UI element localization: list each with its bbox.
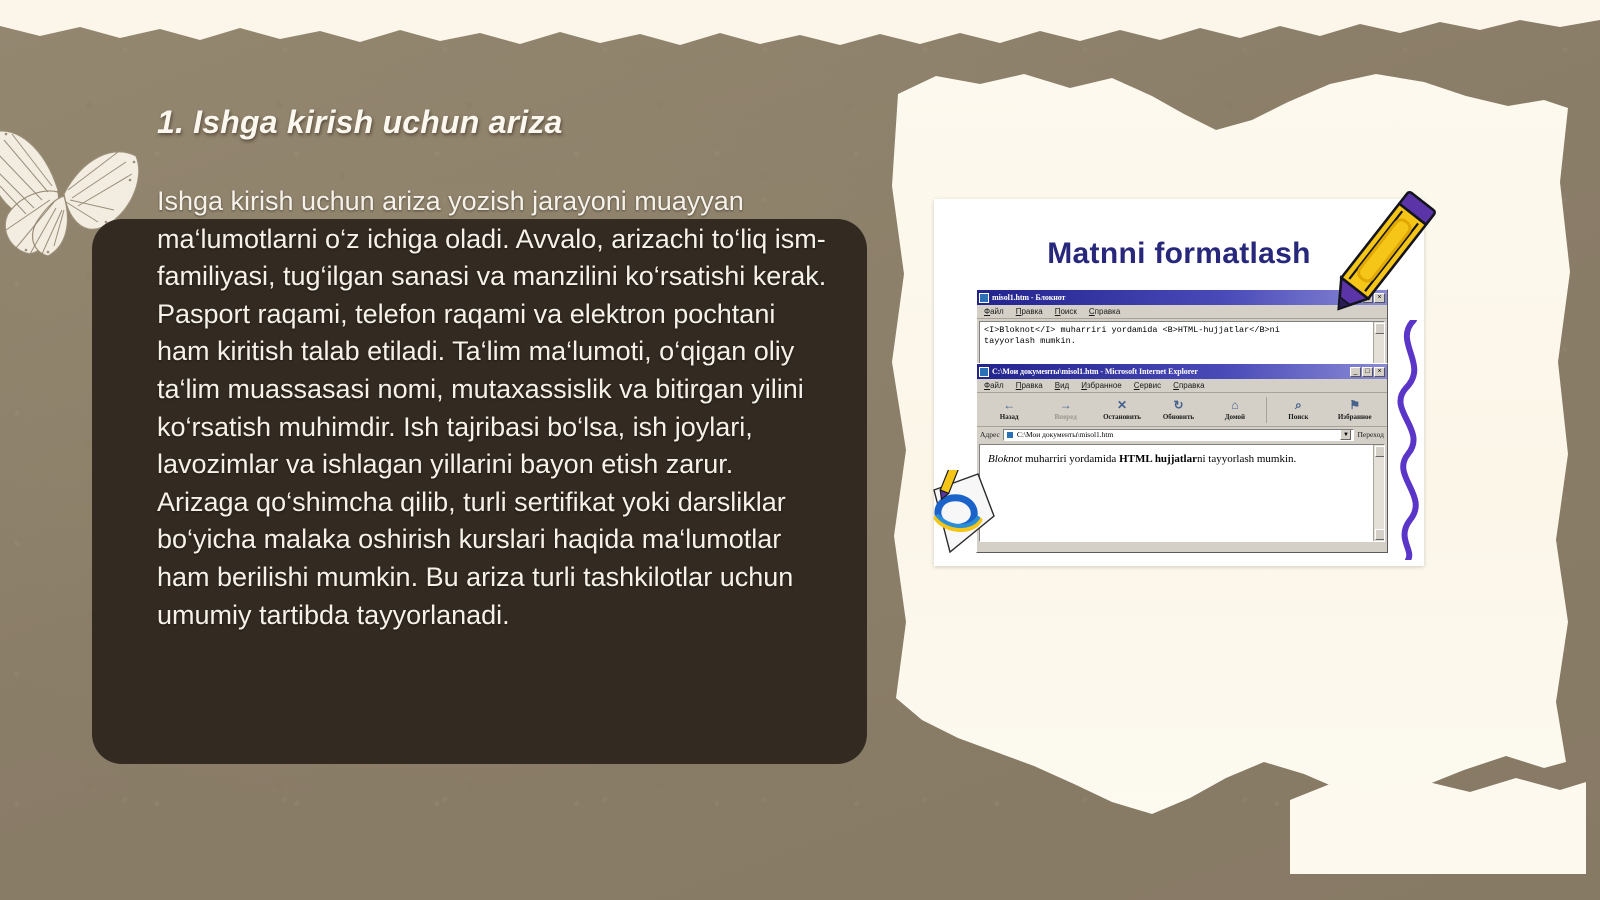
ie-page-italic-word: Bloknot xyxy=(988,453,1022,465)
toolbar-label: Избранное xyxy=(1338,413,1372,421)
toolbar-label: Обновить xyxy=(1163,413,1194,421)
menu-item-help[interactable]: Справка xyxy=(1173,381,1204,390)
internet-explorer-window[interactable]: C:\Мои документы\misol1.htm - Microsoft … xyxy=(976,363,1388,553)
search-icon: ⌕ xyxy=(1270,398,1326,413)
address-label: Адрес xyxy=(980,430,1000,439)
ie-page-text-2: ni tayyorlash mumkin. xyxy=(1197,453,1296,465)
favorites-icon: ⚑ xyxy=(1327,398,1383,413)
page-title: 1. Ishga kirish uchun ariza xyxy=(157,104,563,141)
toolbar-button-home[interactable]: ⌂ Домой xyxy=(1207,398,1263,421)
menu-item-favorites[interactable]: Избранное xyxy=(1081,381,1122,390)
notepad-titlebar[interactable]: misol1.htm - Блокнот _ □ × xyxy=(977,290,1387,305)
toolbar-button-refresh[interactable]: ↻ Обновить xyxy=(1150,398,1206,421)
toolbar-separator xyxy=(1266,397,1267,423)
ie-toolbar[interactable]: ← Назад → Вперед ✕ Остановить ↻ Обновить… xyxy=(977,393,1387,427)
chevron-down-icon[interactable]: ▼ xyxy=(1340,429,1351,440)
maximize-button[interactable]: □ xyxy=(1362,367,1373,377)
go-button[interactable]: Переход xyxy=(1357,430,1384,439)
notepad-title: misol1.htm - Блокнот xyxy=(992,293,1347,302)
menu-item-search[interactable]: Поиск xyxy=(1055,307,1077,316)
notepad-icon xyxy=(979,293,989,303)
ie-content-area[interactable]: Bloknot muharriri yordamida HTML hujjatl… xyxy=(979,444,1385,542)
menu-item-view[interactable]: Вид xyxy=(1055,381,1069,390)
toolbar-label: Назад xyxy=(1000,413,1019,421)
notepad-content[interactable]: <I>Bloknot</I> muharriri yordamida <B>HT… xyxy=(980,322,1384,350)
page-icon xyxy=(1006,431,1014,439)
body-paragraph: Ishga kirish uchun ariza yozish jarayoni… xyxy=(157,183,829,634)
address-value[interactable]: C:\Мои документы\misol1.htm xyxy=(1017,430,1114,439)
toolbar-button-stop[interactable]: ✕ Остановить xyxy=(1094,398,1150,421)
back-arrow-icon: ← xyxy=(981,398,1037,413)
menu-item-edit[interactable]: Правка xyxy=(1016,381,1043,390)
pencil-icon xyxy=(1330,186,1440,326)
toolbar-button-search[interactable]: ⌕ Поиск xyxy=(1270,398,1326,421)
menu-item-file[interactable]: Файл xyxy=(984,381,1004,390)
toolbar-button-favorites[interactable]: ⚑ Избранное xyxy=(1327,398,1383,421)
ie-page-text-1: muharriri yordamida xyxy=(1022,453,1119,465)
ie-menubar[interactable]: Файл Правка Вид Избранное Сервис Справка xyxy=(977,379,1387,393)
internet-explorer-logo xyxy=(928,470,1000,556)
menu-item-edit[interactable]: Правка xyxy=(1016,307,1043,316)
forward-arrow-icon: → xyxy=(1037,398,1093,413)
torn-paper-sliver xyxy=(1290,770,1586,874)
ie-address-bar[interactable]: Адрес C:\Мои документы\misol1.htm ▼ Пере… xyxy=(977,427,1387,442)
refresh-icon: ↻ xyxy=(1150,398,1206,413)
menu-item-tools[interactable]: Сервис xyxy=(1134,381,1161,390)
minimize-button[interactable]: _ xyxy=(1350,367,1361,377)
ie-icon xyxy=(979,367,989,377)
toolbar-label: Домой xyxy=(1225,413,1245,421)
toolbar-label: Остановить xyxy=(1103,413,1141,421)
notepad-menubar[interactable]: Файл Правка Поиск Справка xyxy=(977,305,1387,319)
menu-item-help[interactable]: Справка xyxy=(1089,307,1120,316)
stop-icon: ✕ xyxy=(1094,398,1150,413)
ie-title: C:\Мои документы\misol1.htm - Microsoft … xyxy=(992,367,1347,376)
ie-page-bold-word: HTML hujjatlar xyxy=(1119,453,1197,465)
ie-rendered-page: Bloknot muharriri yordamida HTML hujjatl… xyxy=(980,445,1384,474)
toolbar-label: Поиск xyxy=(1288,413,1308,421)
home-icon: ⌂ xyxy=(1207,398,1263,413)
toolbar-button-back[interactable]: ← Назад xyxy=(981,398,1037,421)
toolbar-label: Вперед xyxy=(1055,413,1077,421)
squiggle-line xyxy=(1384,320,1434,560)
ie-scrollbar[interactable] xyxy=(1373,445,1384,541)
menu-item-file[interactable]: Файл xyxy=(984,307,1004,316)
ie-titlebar[interactable]: C:\Мои документы\misol1.htm - Microsoft … xyxy=(977,364,1387,379)
slide-background: 1. Ishga kirish uchun ariza Ishga kirish… xyxy=(0,0,1600,900)
ie-window-buttons[interactable]: _ □ × xyxy=(1350,367,1385,377)
torn-paper-strip xyxy=(0,0,1600,46)
toolbar-button-forward[interactable]: → Вперед xyxy=(1037,398,1093,421)
address-input[interactable]: C:\Мои документы\misol1.htm ▼ xyxy=(1003,429,1355,441)
